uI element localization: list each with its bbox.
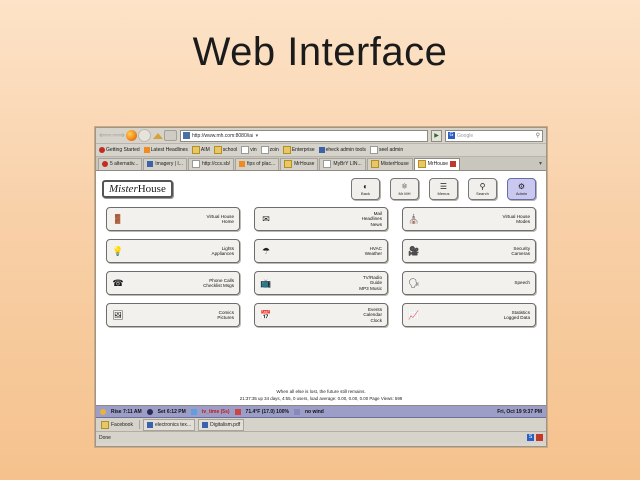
firefox-reload-icon[interactable] xyxy=(125,129,138,142)
tile-mail-headlines-news[interactable]: ✉Mail Headlines News xyxy=(254,207,388,231)
comics-icon: 🖼 xyxy=(110,307,126,323)
statistics-icon: 📈 xyxy=(406,307,422,323)
taskbar-label: electronics tex... xyxy=(155,422,191,428)
rss-feed-icon xyxy=(144,147,150,153)
taskbar-item[interactable]: Digitalism.pdf xyxy=(198,419,244,431)
tile-label: Speech xyxy=(422,280,532,285)
search-icon: ⚲ xyxy=(480,183,486,191)
page-icon xyxy=(261,146,269,154)
tab-bar: 5 alternativ... Imagery | I... http://cc… xyxy=(96,157,546,171)
tab-item-active[interactable]: MrHouse xyxy=(414,158,460,170)
sunset-icon xyxy=(147,409,153,415)
bookmark-item[interactable]: Latest Headlines xyxy=(144,147,188,153)
bookmark-label: Enterprise xyxy=(292,147,315,153)
calendar-icon: 📅 xyxy=(258,307,274,323)
reddit-icon xyxy=(102,161,108,167)
tile-label: Virtual House Home xyxy=(126,214,236,225)
phone-icon: ☎ xyxy=(110,275,126,291)
mh-logo-house: House xyxy=(138,183,166,195)
bookmark-label: Latest Headlines xyxy=(151,147,188,153)
mh-tile-grid: 🚪Virtual House Home ✉Mail Headlines News… xyxy=(106,207,536,327)
tab-item[interactable]: http://ccs.sb/ xyxy=(188,158,234,170)
bookmark-item[interactable]: zoin xyxy=(261,146,279,154)
tab-label: http://ccs.sb/ xyxy=(202,161,230,167)
tile-events-calendar-clock[interactable]: 📅Events Calendar Clock xyxy=(254,303,388,327)
back-arrow-icon[interactable]: ⟸ xyxy=(99,129,112,142)
forward-arrow-icon[interactable]: ⟹ xyxy=(112,129,125,142)
tab-item[interactable]: fips of plac... xyxy=(235,158,279,170)
lamp-icon: 💡 xyxy=(110,243,126,259)
chevron-down-icon[interactable]: ▾ xyxy=(253,131,260,141)
sunrise-text: Rise 7:11 AM xyxy=(111,409,142,415)
tab-label: fips of plac... xyxy=(247,161,275,167)
tab-item[interactable]: Imagery | I... xyxy=(143,158,187,170)
weather-icon: ☂ xyxy=(258,243,274,259)
tile-security-cameras[interactable]: 🎥Security Cameras xyxy=(402,239,536,263)
tab-label: MyBrY LIN... xyxy=(333,161,361,167)
status-text: Done xyxy=(99,435,111,441)
window-icon xyxy=(147,422,153,428)
tile-label: Mail Headlines News xyxy=(274,211,384,227)
firefox-bookmark-icon xyxy=(99,147,105,153)
mh-icon xyxy=(418,160,426,168)
page-icon xyxy=(370,146,378,154)
tile-speech[interactable]: 🗣Speech xyxy=(402,271,536,295)
tile-virtual-house-modes[interactable]: ⛪Virtual House Modes xyxy=(402,207,536,231)
tab-item[interactable]: MisterHouse xyxy=(367,158,413,170)
admin-gear-icon: ⚙ xyxy=(518,183,525,191)
wind-text: no wind xyxy=(305,409,324,415)
mh-status-bar: Rise 7:11 AM Set 6:12 PM tv_time (5s) 71… xyxy=(96,406,546,418)
mh-icon xyxy=(371,160,379,168)
sunset-text: Set 6:12 PM xyxy=(158,409,186,415)
page-icon xyxy=(323,160,331,168)
mh-page-content: MisterHouse ◐ Back ⚛ Mr MH ☰ Menus ⚲ Sea… xyxy=(96,171,546,406)
folder-icon xyxy=(283,146,291,154)
search-placeholder: Google xyxy=(457,133,536,139)
tile-label: HVAC Weather xyxy=(274,246,384,257)
mh-nav-search[interactable]: ⚲ Search xyxy=(468,178,497,200)
tile-label: Security Cameras xyxy=(422,246,532,257)
tile-label: Lights Appliances xyxy=(126,246,236,257)
mh-nav-label: Back xyxy=(361,191,370,196)
divider xyxy=(139,420,140,429)
tile-comics-pictures[interactable]: 🖼Comics Pictures xyxy=(106,303,240,327)
back-arrow-icon: ◐ xyxy=(363,183,368,191)
bookmark-label: seel admin xyxy=(379,147,403,153)
menus-icon: ☰ xyxy=(440,183,447,191)
temperature-text: 71.4°F (17.0) 100% xyxy=(246,409,289,415)
door-icon: 🚪 xyxy=(110,211,126,227)
mail-icon[interactable] xyxy=(536,434,543,441)
datetime-text: Fri, Oct 19 9:37 PM xyxy=(497,409,542,415)
bookmark-label: vin xyxy=(250,147,256,153)
mh-tagline: When all else is lost, the future still … xyxy=(96,389,546,394)
mh-header: MisterHouse ◐ Back ⚛ Mr MH ☰ Menus ⚲ Sea… xyxy=(96,171,546,203)
url-text: http://www.mh.com:8080/ia/ xyxy=(192,133,253,139)
tile-phone-calls-checklist[interactable]: ☎Phone Calls Checklist Msgs xyxy=(106,271,240,295)
tile-label: Phone Calls Checklist Msgs xyxy=(126,278,236,289)
print-icon[interactable] xyxy=(164,129,177,142)
search-magnifier-icon[interactable]: ⚲ xyxy=(536,132,540,139)
star-icon xyxy=(147,161,153,167)
secure-icon[interactable]: S xyxy=(527,434,534,441)
sunrise-icon xyxy=(100,409,106,415)
taskbar-label: Facebook xyxy=(111,422,133,428)
bookmark-item[interactable]: seel admin xyxy=(370,146,403,154)
tile-label: Events Calendar Clock xyxy=(274,307,384,323)
os-taskbar: Facebook electronics tex... Digitalism.p… xyxy=(96,418,546,432)
close-icon[interactable] xyxy=(450,161,456,167)
stop-icon[interactable] xyxy=(138,129,151,142)
tv-time-text: tv_time (5s) xyxy=(202,409,230,415)
page-title: Web Interface xyxy=(0,30,640,75)
bookmark-label: AIM xyxy=(201,147,210,153)
house-modes-icon: ⛪ xyxy=(406,211,422,227)
favicon-icon xyxy=(183,132,190,139)
tile-hvac-weather[interactable]: ☂HVAC Weather xyxy=(254,239,388,263)
bookmark-label: eheck admin tools xyxy=(326,147,366,153)
home-icon[interactable] xyxy=(151,129,164,142)
browser-window-screenshot: ⟸ ⟹ http://www.mh.com:8080/ia/ ▾ ▶ G Goo… xyxy=(95,127,547,447)
tile-statistics-logged-data[interactable]: 📈Statistics Logged Data xyxy=(402,303,536,327)
tab-label: 5 alternativ... xyxy=(110,161,138,167)
bookmark-item[interactable]: Getting Started xyxy=(99,147,140,153)
mh-logo-mister: Mister xyxy=(109,183,138,195)
taskbar-label: Digitalism.pdf xyxy=(210,422,240,428)
tab-label: MisterHouse xyxy=(381,161,409,167)
page-icon xyxy=(241,146,249,154)
tab-item[interactable]: 5 alternativ... xyxy=(98,158,142,170)
taskbar-item[interactable]: Facebook xyxy=(98,420,136,430)
globe-icon xyxy=(319,147,325,153)
camera-icon: 🎥 xyxy=(406,243,422,259)
go-button[interactable]: ▶ xyxy=(431,130,442,142)
mh-nav-label: Menus xyxy=(437,191,449,196)
tv-icon: 📺 xyxy=(258,275,274,291)
browser-status-bar: Done S xyxy=(96,432,546,443)
mh-nav-menus[interactable]: ☰ Menus xyxy=(429,178,458,200)
wind-icon xyxy=(294,409,300,415)
mh-nav-buttons: ◐ Back ⚛ Mr MH ☰ Menus ⚲ Search ⚙ Admi xyxy=(351,178,536,200)
folder-icon xyxy=(192,146,200,154)
bookmark-item[interactable]: vin xyxy=(241,146,256,154)
app-icon xyxy=(101,421,109,429)
chevron-down-icon[interactable]: ▾ xyxy=(539,160,544,167)
bookmark-item[interactable]: eheck admin tools xyxy=(319,147,366,153)
tile-label: Comics Pictures xyxy=(126,310,236,321)
tile-label: TV/Radio Guide MP3 Music xyxy=(274,275,384,291)
mh-uptime-stats: 21:37:35 up 34 days, 4:55, 0 users, load… xyxy=(96,396,546,401)
tile-virtual-house-home[interactable]: 🚪Virtual House Home xyxy=(106,207,240,231)
mh-logo[interactable]: MisterHouse xyxy=(102,180,173,198)
mh-nav-back[interactable]: ◐ Back xyxy=(351,178,380,200)
mh-nav-admin[interactable]: ⚙ Admin xyxy=(507,178,536,200)
tile-lights-appliances[interactable]: 💡Lights Appliances xyxy=(106,239,240,263)
bookmark-label: zoin xyxy=(270,147,279,153)
mh-icon xyxy=(284,160,292,168)
mh-nav-label: Admin xyxy=(516,191,527,196)
tab-label: MrHouse xyxy=(294,161,314,167)
mh-page-footer: When all else is lost, the future still … xyxy=(96,389,546,401)
browser-navigation-toolbar: ⟸ ⟹ http://www.mh.com:8080/ia/ ▾ ▶ G Goo… xyxy=(96,128,546,144)
tv-icon xyxy=(191,409,197,415)
folder-icon xyxy=(214,146,222,154)
search-input[interactable]: G Google ⚲ xyxy=(445,130,543,142)
tile-tv-radio-mp3[interactable]: 📺TV/Radio Guide MP3 Music xyxy=(254,271,388,295)
mh-nav-label: Mr MH xyxy=(399,191,411,196)
mrmh-icon: ⚛ xyxy=(401,183,408,191)
google-icon: G xyxy=(448,132,455,139)
page-icon xyxy=(192,160,200,168)
thermometer-icon xyxy=(235,409,241,415)
mh-nav-label: Search xyxy=(476,191,489,196)
tab-label: MrHouse xyxy=(428,161,448,167)
bookmark-item[interactable]: AIM xyxy=(192,146,210,154)
tile-label: Virtual House Modes xyxy=(422,214,532,225)
bookmark-label: Getting Started xyxy=(106,147,140,153)
bookmark-item[interactable]: school xyxy=(214,146,237,154)
mh-nav-mrmh[interactable]: ⚛ Mr MH xyxy=(390,178,419,200)
tab-label: Imagery | I... xyxy=(155,161,183,167)
taskbar-item[interactable]: electronics tex... xyxy=(143,419,195,431)
bookmarks-toolbar: Getting Started Latest Headlines AIM sch… xyxy=(96,144,546,157)
url-input[interactable]: http://www.mh.com:8080/ia/ ▾ xyxy=(180,130,428,142)
bookmark-item[interactable]: Enterprise xyxy=(283,146,315,154)
orange-icon xyxy=(239,161,245,167)
tab-item[interactable]: MyBrY LIN... xyxy=(319,158,365,170)
tab-item[interactable]: MrHouse xyxy=(280,158,318,170)
bookmark-label: school xyxy=(223,147,237,153)
tile-label: Statistics Logged Data xyxy=(422,310,532,321)
mail-icon: ✉ xyxy=(258,211,274,227)
pdf-icon xyxy=(202,422,208,428)
speech-icon: 🗣 xyxy=(406,275,422,291)
